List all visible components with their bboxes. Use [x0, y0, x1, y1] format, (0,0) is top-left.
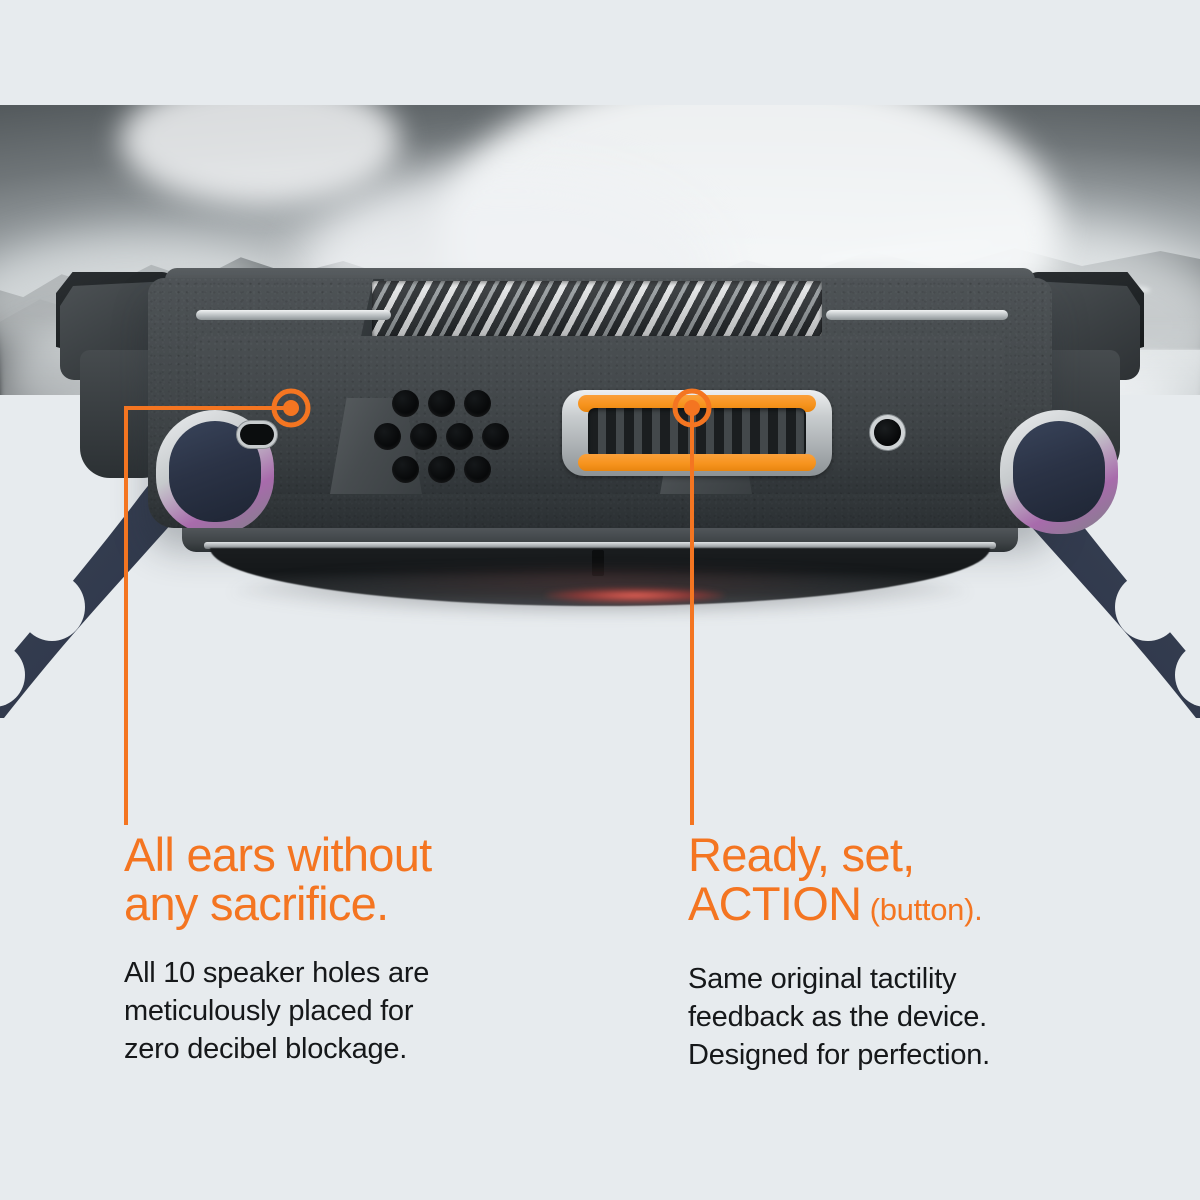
speaker-hole [428, 456, 455, 483]
feature-column-speaker: All ears without any sacrifice. All 10 s… [124, 830, 594, 1068]
strap-socket-right [1000, 410, 1118, 534]
headline-action-button: Ready, set, ACTION (button). [688, 830, 1158, 934]
microphone-slot [240, 424, 274, 445]
action-button[interactable] [562, 390, 832, 476]
silver-accent-left [196, 310, 391, 320]
action-button-bottom-bar [578, 454, 816, 471]
carbon-fiber-texture [372, 281, 822, 339]
speaker-hole [392, 456, 419, 483]
body-line-1: Same original tactility [688, 963, 956, 995]
speaker-hole [482, 423, 509, 450]
feature-column-action-button: Ready, set, ACTION (button). Same origin… [688, 830, 1158, 1074]
body-action-button: Same original tactility feedback as the … [688, 960, 1158, 1074]
side-port [874, 419, 901, 446]
headline-line-2: ACTION [688, 877, 861, 930]
headline-speaker: All ears without any sacrifice. [124, 830, 594, 928]
speaker-hole [392, 390, 419, 417]
headline-suffix: (button). [861, 892, 982, 927]
headline-line-1: Ready, set, [688, 828, 915, 881]
silver-accent-right [826, 310, 1008, 320]
speaker-hole [410, 423, 437, 450]
speaker-holes [378, 390, 508, 482]
speaker-hole [374, 423, 401, 450]
speaker-hole [464, 456, 491, 483]
body-line-3: zero decibel blockage. [124, 1033, 407, 1065]
socket-strap-end [1013, 421, 1105, 522]
body-line-2: meticulously placed for [124, 995, 413, 1027]
headline-line-2: any sacrifice. [124, 877, 388, 930]
marketing-image-stage: All ears without any sacrifice. All 10 s… [0, 0, 1200, 1200]
body-line-1: All 10 speaker holes are [124, 957, 429, 989]
body-line-2: feedback as the device. [688, 1001, 987, 1033]
speaker-hole [464, 390, 491, 417]
copy-block: All ears without any sacrifice. All 10 s… [0, 830, 1200, 1130]
body-speaker: All 10 speaker holes are meticulously pl… [124, 954, 594, 1068]
action-button-ridges [588, 408, 806, 458]
headline-line-1: All ears without [124, 828, 432, 881]
red-sensor-glow [545, 588, 725, 603]
speaker-hole [428, 390, 455, 417]
body-line-3: Designed for perfection. [688, 1039, 990, 1071]
speaker-hole [446, 423, 473, 450]
